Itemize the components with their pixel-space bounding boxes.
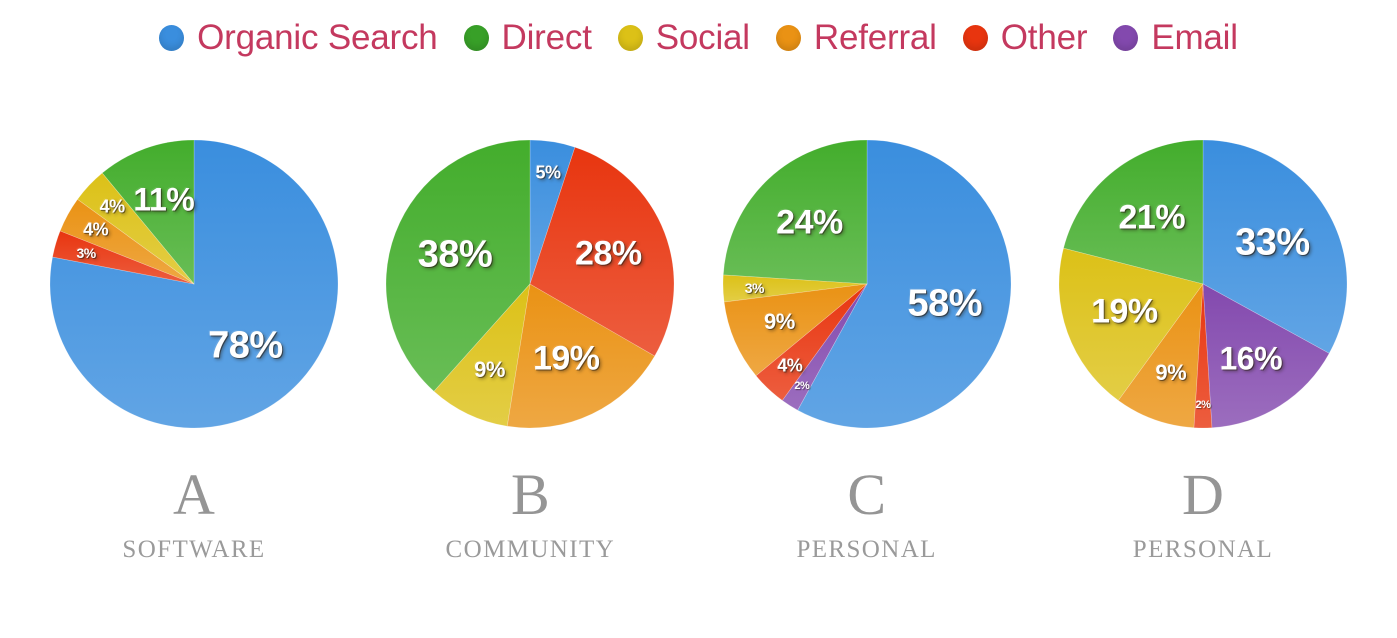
pie-chart-b: 5%38%9%19%28% xyxy=(384,138,676,454)
legend-item-label: Other xyxy=(1001,18,1088,58)
legend-item-social[interactable]: Social xyxy=(618,18,750,58)
pie-chart-panel-c: 58%24%3%9%4%2%CPERSONAL xyxy=(717,138,1017,564)
pie-svg xyxy=(721,138,1013,454)
chart-caption: PERSONAL xyxy=(1133,536,1273,564)
legend-item-direct[interactable]: Direct xyxy=(464,18,592,58)
pie-chart-d: 33%21%19%9%2%16% xyxy=(1057,138,1349,454)
pie-chart-figure: Organic SearchDirectSocialReferralOtherE… xyxy=(0,0,1397,638)
chart-letter: C xyxy=(847,464,886,526)
pie-chart-a: 78%11%4%4%3% xyxy=(48,138,340,454)
circle-swatch-icon xyxy=(464,25,489,51)
circle-swatch-icon xyxy=(618,25,643,51)
pie-chart-panel-d: 33%21%19%9%2%16%DPERSONAL xyxy=(1053,138,1353,564)
pie-chart-panel-a: 78%11%4%4%3%ASOFTWARE xyxy=(44,138,344,564)
legend-item-other[interactable]: Other xyxy=(963,18,1088,58)
legend-item-label: Referral xyxy=(814,18,937,58)
legend-item-referral[interactable]: Referral xyxy=(776,18,937,58)
circle-swatch-icon xyxy=(963,25,988,51)
chart-caption: PERSONAL xyxy=(796,536,936,564)
chart-legend: Organic SearchDirectSocialReferralOtherE… xyxy=(0,18,1397,58)
chart-caption: SOFTWARE xyxy=(122,536,265,564)
pie-chart-c: 58%24%3%9%4%2% xyxy=(721,138,1013,454)
legend-item-email[interactable]: Email xyxy=(1113,18,1238,58)
pie-chart-panel-b: 5%38%9%19%28%BCOMMUNITY xyxy=(380,138,680,564)
circle-swatch-icon xyxy=(776,25,801,51)
chart-caption: COMMUNITY xyxy=(446,536,616,564)
chart-letter: D xyxy=(1182,464,1224,526)
chart-letter: B xyxy=(511,464,550,526)
pie-slice-direct[interactable] xyxy=(723,140,867,284)
legend-item-label: Social xyxy=(656,18,750,58)
chart-row: 78%11%4%4%3%ASOFTWARE5%38%9%19%28%BCOMMU… xyxy=(0,138,1397,564)
legend-item-label: Organic Search xyxy=(197,18,437,58)
legend-item-label: Direct xyxy=(502,18,592,58)
circle-swatch-icon xyxy=(1113,25,1138,51)
pie-svg xyxy=(384,138,676,454)
legend-item-label: Email xyxy=(1151,18,1238,58)
legend-item-organic-search[interactable]: Organic Search xyxy=(159,18,437,58)
chart-letter: A xyxy=(173,464,215,526)
circle-swatch-icon xyxy=(159,25,184,51)
pie-svg xyxy=(1057,138,1349,454)
pie-svg xyxy=(48,138,340,454)
